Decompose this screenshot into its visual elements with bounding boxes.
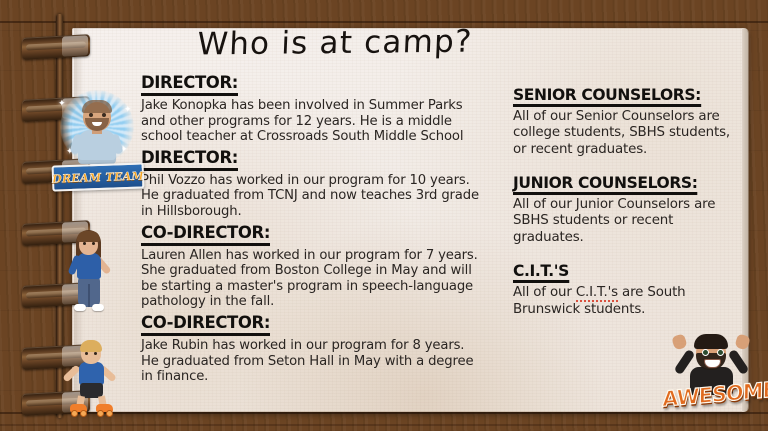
avatar-eye-right [94,352,97,355]
avatar-torso [79,362,104,385]
avatar-eye-left [85,352,88,355]
entry-heading: JUNIOR COUNSELORS: [513,174,698,195]
avatar-hair [694,334,728,349]
dream-team-label: DREAM TEAM [52,169,144,185]
avatar-hair [80,340,102,352]
entry-body: Lauren Allen has worked in our program f… [141,248,486,310]
avatar-eye-right [102,113,106,117]
avatar-hand-left [671,333,688,350]
entry-heading: DIRECTOR: [141,74,238,96]
dream-team-badge: DREAM TEAM [52,162,145,191]
left-column: DIRECTOR: Jake Konopka has been involved… [141,74,486,389]
entry-heading: CO-DIRECTOR: [141,224,270,246]
skate-wheel [71,410,78,417]
skate-wheel [106,410,113,417]
sparkle-icon: ✦ [124,104,132,115]
staff-entry-codirector-2: CO-DIRECTOR: Jake Rubin has worked in ou… [141,314,486,385]
avatar-hair-front [77,231,100,242]
avatar-eye-right [717,349,724,356]
skate-wheel [80,410,87,417]
entry-body: All of our Senior Counselors are college… [513,109,738,158]
right-column: SENIOR COUNSELORS: All of our Senior Cou… [513,86,738,334]
entry-body-pre: All of our [513,285,576,300]
entry-body: Phil Vozzo has worked in our program for… [141,173,486,220]
sticker-dream-team: ✦ ✦ ✦ ✦ DREAM TEAM [52,88,140,192]
avatar-eye-left [89,113,93,117]
entry-heading: DIRECTOR: [141,149,238,171]
wood-plank-seam-bottom2 [0,424,768,426]
binder-ring [22,34,90,60]
avatar-torso [78,130,116,164]
entry-body: All of our Junior Counselors are SBHS st… [513,197,738,246]
skate-wheel [97,410,104,417]
sticker-awesome: AWESOME! [660,333,762,421]
avatar-hair [82,100,112,113]
sticker-avatar-woman [62,228,120,314]
awesome-label: AWESOME! [662,379,762,412]
entry-body: Jake Konopka has been involved in Summer… [141,98,486,145]
staff-entry-director-2: DIRECTOR: Phil Vozzo has worked in our p… [141,149,486,220]
avatar-arm-left [62,364,81,382]
avatar-eye-left [83,242,86,245]
staff-entry-director-1: DIRECTOR: Jake Konopka has been involved… [141,74,486,145]
avatar-hand-right [734,333,751,350]
staff-entry-cits: C.I.T.'S All of our C.I.T.'s are South B… [513,262,738,318]
entry-heading: SENIOR COUNSELORS: [513,86,701,107]
avatar-eye-right [92,242,95,245]
avatar-shoe-right [92,304,104,311]
avatar-torso [77,253,101,279]
sticker-avatar-boy [62,338,124,416]
spellcheck-underlined-word: C.I.T.'s [576,285,618,302]
entry-heading: C.I.T.'S [513,262,569,283]
wood-plank-seam-top [0,21,768,23]
entry-body: All of our C.I.T.'s are South Brunswick … [513,285,738,318]
avatar-eye-left [702,349,709,356]
avatar-shoe-left [74,304,86,311]
slide-canvas: Who is at camp? DIRECTOR: Jake Konopka h… [0,0,768,431]
avatar-leg-split [88,284,90,307]
page-title: Who is at camp? [124,23,546,63]
staff-entry-senior-counselors: SENIOR COUNSELORS: All of our Senior Cou… [513,86,738,158]
sparkle-icon: ✦ [58,98,66,109]
entry-heading: CO-DIRECTOR: [141,314,270,336]
staff-entry-junior-counselors: JUNIOR COUNSELORS: All of our Junior Cou… [513,174,738,246]
entry-body: Jake Rubin has worked in our program for… [141,338,486,385]
staff-entry-codirector-1: CO-DIRECTOR: Lauren Allen has worked in … [141,224,486,310]
